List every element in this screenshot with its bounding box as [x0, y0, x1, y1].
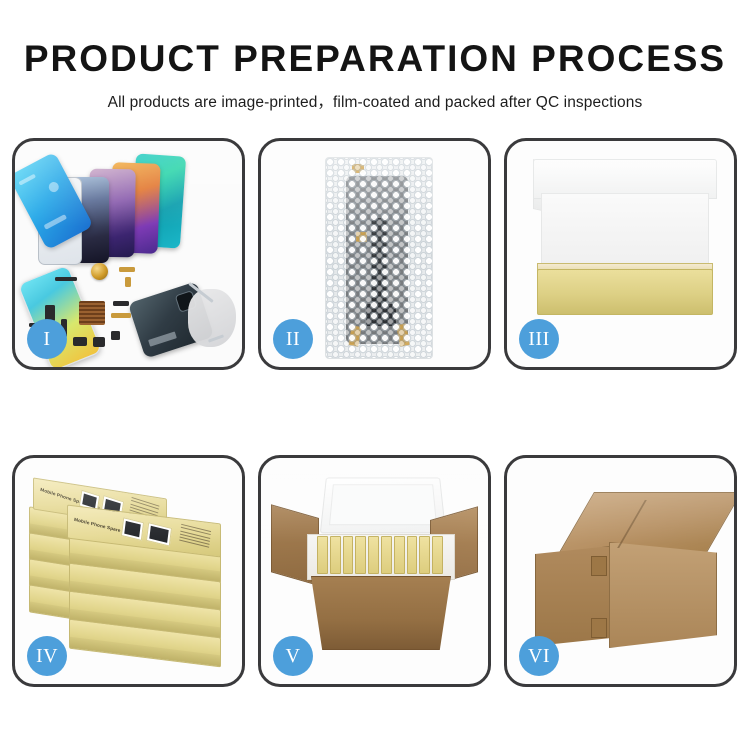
small-component: [113, 301, 129, 306]
page-subtitle: All products are image-printed，film-coat…: [0, 90, 750, 112]
process-step-5: V: [258, 455, 491, 687]
vibration-motor: [91, 263, 108, 280]
process-step-1: I: [12, 138, 245, 370]
inner-box: [368, 536, 379, 574]
carton-body: [311, 576, 451, 650]
carton-tape-lower: [591, 618, 607, 638]
housing-marking: [148, 331, 177, 346]
inner-box: [343, 536, 354, 574]
foam-backing-sheet: [541, 193, 709, 273]
foam-lid-open: [320, 478, 446, 534]
gold-flex-connector: [111, 313, 131, 318]
product-preparation-infographic: PRODUCT PREPARATION PROCESS All products…: [0, 0, 750, 750]
process-step-2: II: [258, 138, 491, 370]
sealed-carton: [535, 492, 715, 652]
packed-inner-boxes: [317, 538, 443, 574]
inner-box: [419, 536, 430, 574]
small-component: [93, 337, 105, 347]
flex-cable: [55, 277, 77, 281]
box-spec-lines: [179, 524, 211, 551]
step-badge-1: I: [27, 319, 67, 359]
step-badge-4: IV: [27, 636, 67, 676]
yellow-inner-box: [537, 269, 713, 315]
process-step-6: VI: [504, 455, 737, 687]
gold-flex-connector: [119, 267, 135, 272]
box-window-phone: [121, 517, 144, 541]
inner-box: [432, 536, 443, 574]
step-badge-6: VI: [519, 636, 559, 676]
page-title: PRODUCT PREPARATION PROCESS: [0, 40, 750, 79]
inner-box: [330, 536, 341, 574]
process-step-4: Mobile Phone Spare Parts Mobile: [12, 455, 245, 687]
step-badge-3: III: [519, 319, 559, 359]
inner-box: [317, 536, 328, 574]
gold-flex-connector: [125, 277, 131, 287]
box-window-phone: [146, 522, 172, 546]
inner-box: [355, 536, 366, 574]
box-stack: Mobile Phone Spare Parts Mobile: [29, 480, 229, 666]
step-badge-5: V: [273, 636, 313, 676]
film-cutout: [44, 214, 68, 230]
header: PRODUCT PREPARATION PROCESS All products…: [0, 0, 750, 112]
inner-box: [407, 536, 418, 574]
small-component: [73, 337, 87, 346]
process-step-3: III: [504, 138, 737, 370]
inner-box: [381, 536, 392, 574]
copper-shield-grid: [79, 301, 105, 325]
bubble-texture: [326, 158, 432, 358]
process-step-grid: I II: [12, 138, 738, 686]
step-badge-2: II: [273, 319, 313, 359]
bubble-wrap-bag: [325, 157, 433, 359]
small-component: [111, 331, 120, 340]
film-cutout: [47, 180, 61, 194]
film-cutout: [18, 174, 36, 186]
carton-tape-upper: [591, 556, 607, 576]
carton-face-right: [609, 542, 717, 648]
inner-box: [394, 536, 405, 574]
